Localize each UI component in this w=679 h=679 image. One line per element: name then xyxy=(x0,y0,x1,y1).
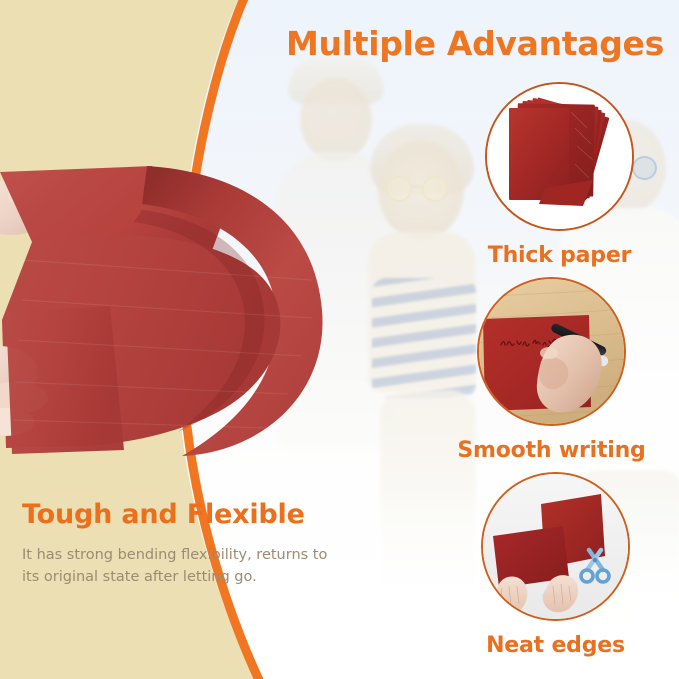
hero-product-image xyxy=(0,160,340,460)
feature-smooth-writing: Smooth writing xyxy=(432,277,671,463)
left-section-description: It has strong bending flexibility, retur… xyxy=(22,544,340,589)
feature-neat-edges: Neat edges xyxy=(436,472,675,658)
left-section-title: Tough and Flexible xyxy=(22,500,352,530)
feature-label-smooth-writing: Smooth writing xyxy=(432,439,671,463)
feature-label-neat-edges: Neat edges xyxy=(436,634,675,658)
left-text-block: Tough and Flexible It has strong bending… xyxy=(22,500,352,589)
feature-image-smooth-writing xyxy=(477,277,626,426)
page-title: Multiple Advantages xyxy=(286,27,678,62)
feature-thick-paper: Thick paper xyxy=(440,82,679,268)
feature-image-thick-paper xyxy=(485,82,634,231)
advantages-poster: Tough and Flexible It has strong bending… xyxy=(0,0,679,679)
feature-image-neat-edges xyxy=(481,472,630,621)
feature-label-thick-paper: Thick paper xyxy=(440,244,679,268)
